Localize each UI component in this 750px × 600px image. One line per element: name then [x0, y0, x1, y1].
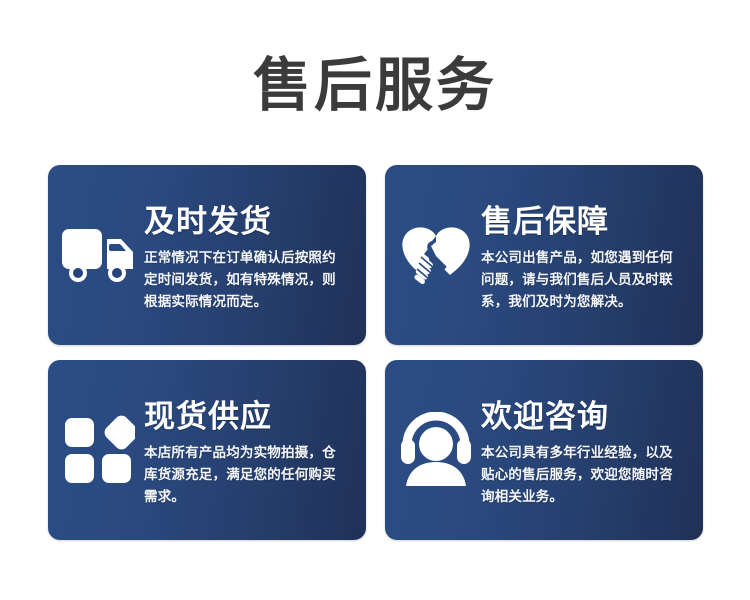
service-card-after-sales-guarantee[interactable]: 售后保障 本公司出售产品，如您遇到任何问题，请与我们售后人员及时联系，我们及时为…: [385, 165, 703, 345]
service-card-in-stock-supply[interactable]: 现货供应 本店所有产品均为实物拍摄，仓库货源充足，满足您的任何购买需求。: [48, 360, 366, 540]
after-sales-service-banner: 售后服务 及时发货 正常情况下在订单确认后按照约定时间发货，如有特殊情况，则根据…: [0, 0, 750, 600]
card-body: 及时发货 正常情况下在订单确认后按照约定时间发货，如有特殊情况，则根据实际情况而…: [144, 197, 366, 313]
page-title: 售后服务: [0, 52, 750, 120]
card-text: 正常情况下在订单确认后按照约定时间发货，如有特殊情况，则根据实际情况而定。: [144, 247, 348, 313]
squares-icon: [48, 360, 144, 540]
service-card-grid: 及时发货 正常情况下在订单确认后按照约定时间发货，如有特殊情况，则根据实际情况而…: [48, 165, 703, 540]
card-text: 本公司出售产品，如您遇到任何问题，请与我们售后人员及时联系，我们及时为您解决。: [481, 247, 685, 313]
card-text: 本店所有产品均为实物拍摄，仓库货源充足，满足您的任何购买需求。: [144, 442, 348, 508]
card-heading: 售后保障: [481, 203, 685, 241]
handshake-icon: [385, 165, 481, 345]
service-card-timely-delivery[interactable]: 及时发货 正常情况下在订单确认后按照约定时间发货，如有特殊情况，则根据实际情况而…: [48, 165, 366, 345]
card-heading: 及时发货: [144, 203, 348, 241]
card-body: 欢迎咨询 本公司具有多年行业经验，以及贴心的售后服务，欢迎您随时咨询相关业务。: [481, 392, 703, 508]
card-heading: 欢迎咨询: [481, 398, 685, 436]
card-text: 本公司具有多年行业经验，以及贴心的售后服务，欢迎您随时咨询相关业务。: [481, 442, 685, 508]
card-body: 售后保障 本公司出售产品，如您遇到任何问题，请与我们售后人员及时联系，我们及时为…: [481, 197, 703, 313]
headset-agent-icon: [385, 360, 481, 540]
truck-icon: [48, 165, 144, 345]
card-heading: 现货供应: [144, 398, 348, 436]
card-body: 现货供应 本店所有产品均为实物拍摄，仓库货源充足，满足您的任何购买需求。: [144, 392, 366, 508]
service-card-welcome-consultation[interactable]: 欢迎咨询 本公司具有多年行业经验，以及贴心的售后服务，欢迎您随时咨询相关业务。: [385, 360, 703, 540]
